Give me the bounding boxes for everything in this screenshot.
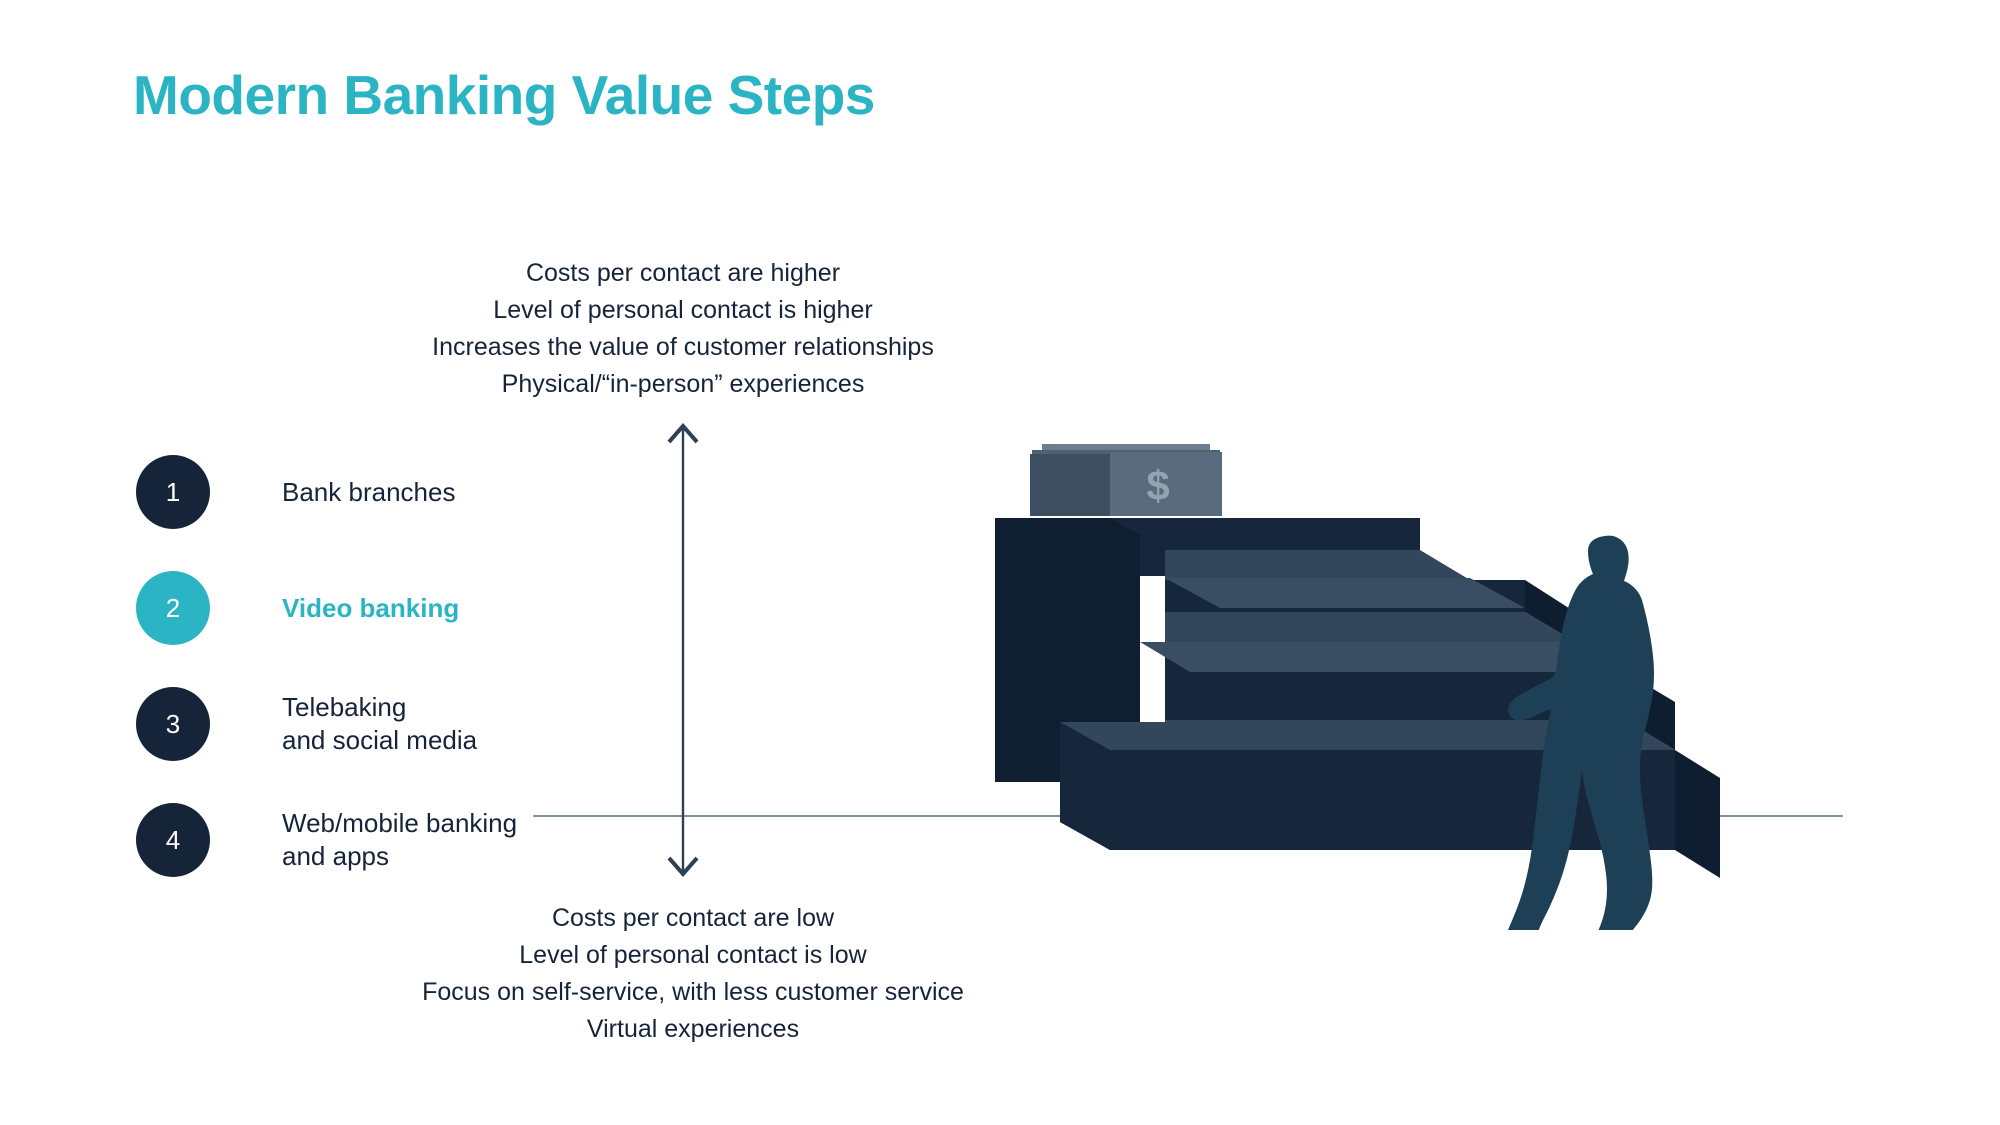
list-item-step-3[interactable]: 3 Telebaking and social media xyxy=(136,687,477,761)
top-annotation-block: Costs per contact are higher Level of pe… xyxy=(432,255,934,403)
bottom-annotation-line-3: Focus on self-service, with less custome… xyxy=(422,974,964,1011)
top-annotation-line-3: Increases the value of customer relation… xyxy=(432,329,934,366)
step-number-badge-2: 2 xyxy=(136,571,210,645)
top-annotation-line-1: Costs per contact are higher xyxy=(432,255,934,292)
list-item-step-2[interactable]: 2 Video banking xyxy=(136,571,459,645)
step-number-badge-4: 4 xyxy=(136,803,210,877)
step-label-2: Video banking xyxy=(282,592,459,625)
bottom-annotation-block: Costs per contact are low Level of perso… xyxy=(422,900,964,1048)
step-label-3: Telebaking and social media xyxy=(282,691,477,757)
stair-second-tread xyxy=(1140,642,1625,672)
step-number-badge-1: 1 xyxy=(136,455,210,529)
top-annotation-line-4: Physical/“in-person” experiences xyxy=(432,366,934,403)
bottom-annotation-line-4: Virtual experiences xyxy=(422,1011,964,1048)
step-label-4: Web/mobile banking and apps xyxy=(282,807,517,873)
double-arrow-vertical-icon xyxy=(655,420,711,880)
bottom-annotation-line-2: Level of personal contact is low xyxy=(422,937,964,974)
page-title: Modern Banking Value Steps xyxy=(133,63,875,127)
bottom-annotation-line-1: Costs per contact are low xyxy=(422,900,964,937)
step-label-1: Bank branches xyxy=(282,476,455,509)
money-dollar-symbol: $ xyxy=(1146,462,1169,509)
list-item-step-1[interactable]: 1 Bank branches xyxy=(136,455,455,529)
top-annotation-line-2: Level of personal contact is higher xyxy=(432,292,934,329)
step-number-badge-3: 3 xyxy=(136,687,210,761)
staircase-illustration: $ xyxy=(980,430,1720,930)
money-stack-icon: $ xyxy=(1030,444,1222,516)
list-item-step-4[interactable]: 4 Web/mobile banking and apps xyxy=(136,803,517,877)
stair-third-tread xyxy=(1165,578,1525,608)
